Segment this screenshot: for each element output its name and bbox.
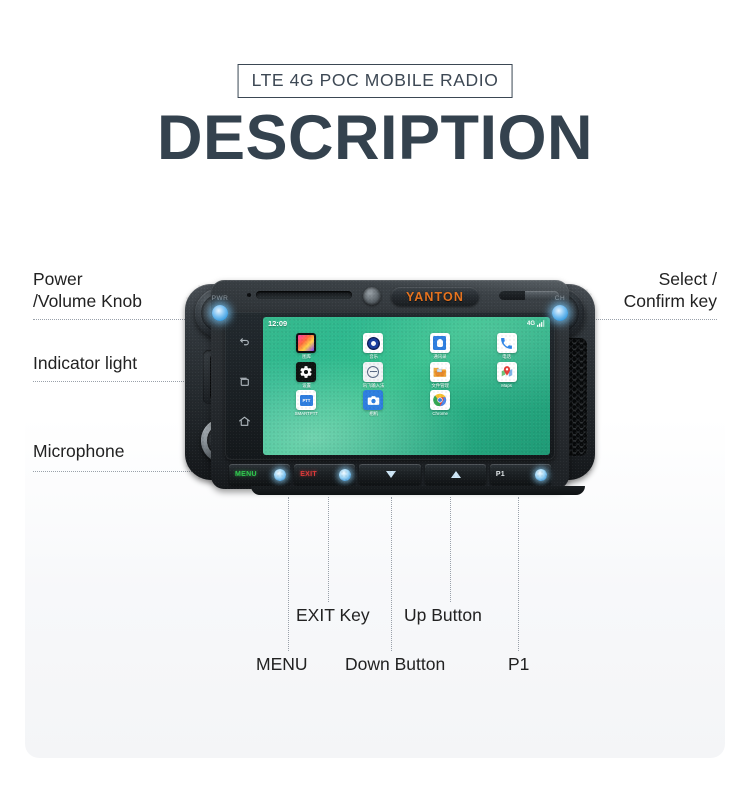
p1-key[interactable]: P1 [490, 464, 551, 485]
knob-led-icon [212, 305, 228, 321]
menu-key[interactable]: MENU [229, 464, 290, 485]
app-label: 电话 [502, 355, 511, 359]
callout-p1: P1 [508, 653, 529, 675]
brand-label: YANTON [406, 290, 464, 304]
app-label: 通讯录 [433, 355, 446, 359]
phone-icon [497, 333, 517, 353]
app-label: SMARTPTT [295, 412, 318, 416]
app-smart-ptt[interactable]: PTT SMARTPTT [273, 390, 340, 417]
callout-up-button: Up Button [404, 604, 482, 626]
app-label: 音乐 [369, 355, 378, 359]
app-grid: 图库 音乐 [263, 330, 550, 417]
app-music[interactable]: 音乐 [340, 333, 407, 360]
status-network-label: 4G [527, 321, 535, 327]
exit-key-label: EXIT [300, 471, 317, 478]
mobile-radio-device: PWR CH [183, 276, 597, 498]
leader-microphone [33, 471, 208, 472]
callout-power-volume-knob: Power /Volume Knob [33, 268, 142, 312]
leader-menu [288, 497, 289, 651]
callout-exit-key: EXIT Key [296, 604, 370, 626]
page-title: DESCRIPTION [157, 103, 593, 174]
maps-icon [497, 362, 517, 382]
arrow-up-icon [451, 471, 461, 478]
menu-key-label: MENU [235, 471, 257, 478]
app-chrome[interactable]: Chrome [407, 390, 474, 417]
leader-select-confirm-key [586, 319, 717, 320]
app-label: Maps [501, 384, 512, 388]
app-contacts[interactable]: 通讯录 [407, 333, 474, 360]
callout-menu: MENU [256, 653, 308, 675]
touchscreen-display[interactable]: 12:09 4G [263, 317, 550, 455]
arrow-down-icon [386, 471, 396, 478]
knob-led-icon [552, 305, 568, 321]
camera-lens-icon [363, 287, 381, 305]
mic-hole-icon [247, 293, 251, 297]
device-body: YANTON [211, 280, 569, 489]
navigation-rail [225, 312, 263, 460]
callout-microphone: Microphone [33, 440, 124, 462]
app-maps[interactable]: Maps [473, 362, 540, 389]
settings-icon [296, 362, 316, 382]
leader-up-button [450, 497, 451, 602]
chrome-icon [430, 390, 450, 410]
up-key[interactable] [425, 464, 486, 485]
status-clock: 12:09 [268, 319, 287, 328]
app-label: Chrome [432, 412, 448, 416]
camera-icon [363, 390, 383, 410]
subtitle-box: LTE 4G POC MOBILE RADIO [238, 64, 513, 98]
app-gallery[interactable]: 图库 [273, 333, 340, 360]
exit-key[interactable]: EXIT [294, 464, 355, 485]
p1-key-led-icon [535, 469, 547, 481]
brand-plate: YANTON [391, 287, 479, 306]
device-foot [251, 486, 585, 495]
app-label: 相机 [369, 412, 378, 416]
app-label: 文件管理 [431, 384, 448, 388]
app-file-manager[interactable]: 文件管理 [407, 362, 474, 389]
app-label: 图库 [302, 355, 311, 359]
recents-square-icon[interactable] [238, 375, 251, 393]
button-row: MENU EXIT P1 [229, 464, 551, 485]
knob-marking: PWR [212, 295, 229, 302]
app-phone[interactable]: 电话 [473, 333, 540, 360]
down-key[interactable] [359, 464, 420, 485]
p1-key-label: P1 [496, 471, 505, 478]
home-icon[interactable] [238, 415, 251, 433]
gallery-icon [296, 333, 316, 353]
ime-icon [363, 362, 383, 382]
exit-key-led-icon [339, 469, 351, 481]
status-bar: 12:09 4G [263, 317, 550, 330]
top-vent-slot [256, 291, 352, 299]
knob-marking: CH [555, 295, 565, 302]
menu-key-led-icon [274, 469, 286, 481]
leader-down-button [391, 497, 392, 651]
callout-select-confirm-key: Select / Confirm key [624, 268, 717, 312]
back-arrow-icon[interactable] [238, 335, 251, 353]
app-ime[interactable]: 讯飞输入法 [340, 362, 407, 389]
contacts-icon [430, 333, 450, 353]
top-vent-right [499, 291, 559, 300]
signal-bars-icon [537, 320, 545, 327]
callout-indicator-light: Indicator light [33, 352, 137, 374]
app-label: 讯飞输入法 [362, 384, 384, 388]
app-camera[interactable]: 相机 [340, 390, 407, 417]
callout-down-button: Down Button [345, 653, 445, 675]
leader-exit-key [328, 497, 329, 602]
music-icon [363, 333, 383, 353]
app-settings[interactable]: 设置 [273, 362, 340, 389]
ptt-icon: PTT [296, 390, 316, 410]
folder-icon [430, 362, 450, 382]
subtitle-text: LTE 4G POC MOBILE RADIO [252, 70, 499, 91]
leader-p1 [518, 497, 519, 651]
app-label: 设置 [302, 384, 311, 388]
screen-frame: 12:09 4G [225, 312, 555, 460]
